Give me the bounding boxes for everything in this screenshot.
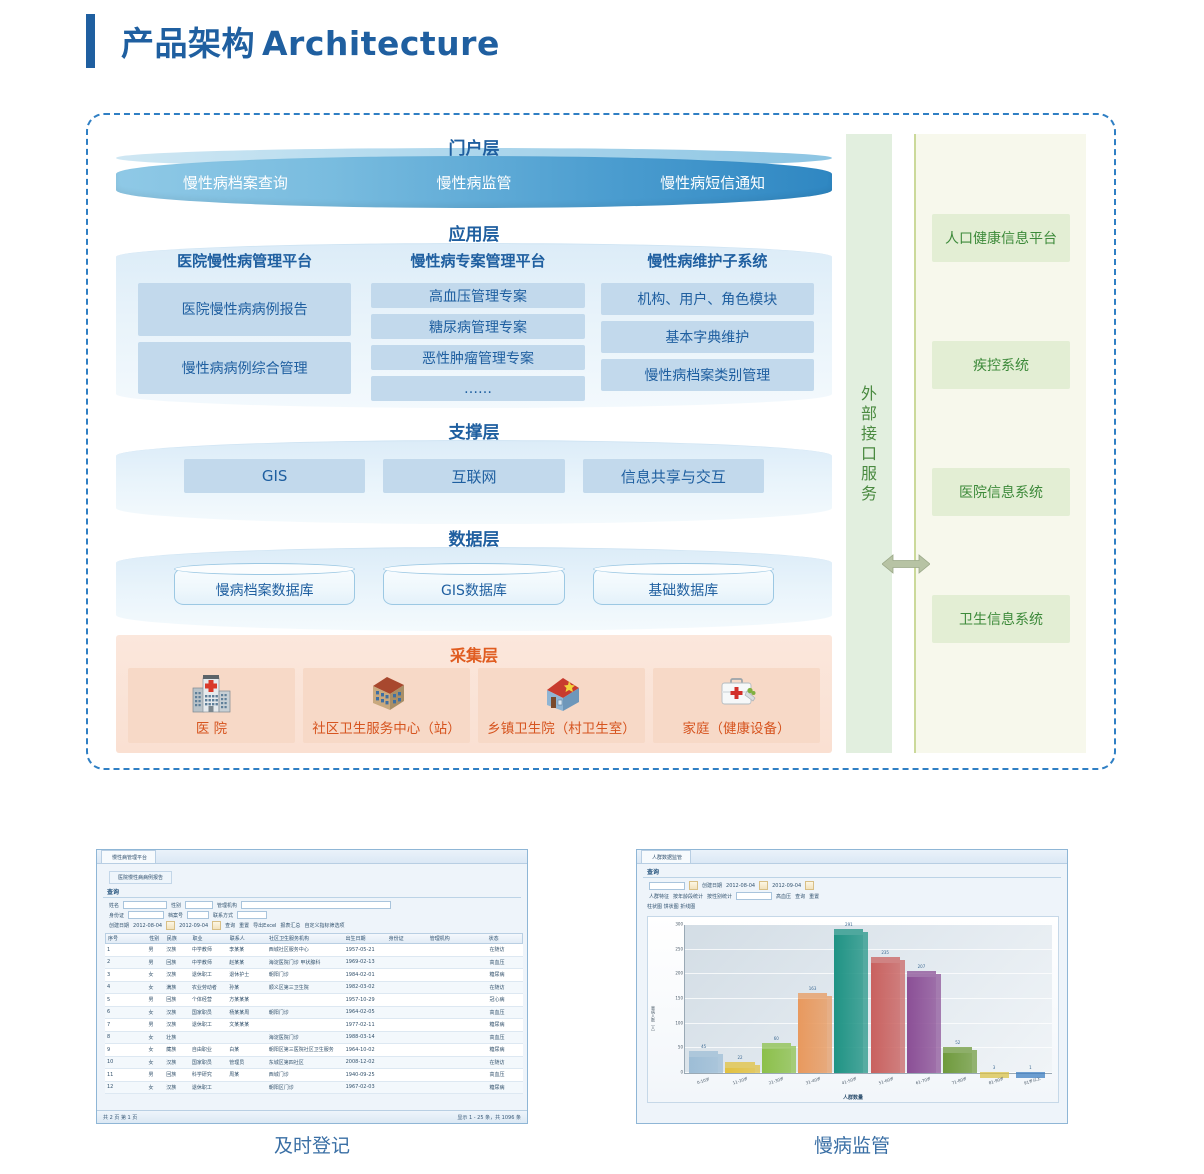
contact-input[interactable] <box>237 911 267 919</box>
database-gis[interactable]: GIS数据库 <box>383 563 564 605</box>
calendar-icon[interactable] <box>759 881 768 890</box>
bar-front-face <box>798 999 827 1073</box>
table-cell: 2008-12-02 <box>344 1059 387 1065</box>
collection-box-family[interactable]: 家庭（健康设备） <box>653 668 820 743</box>
chart-x-tick: 41-50岁 <box>831 1073 870 1096</box>
disease-select[interactable] <box>736 892 772 900</box>
collection-label-2: 乡镇卫生院（村卫生室） <box>487 717 636 737</box>
calendar-icon[interactable] <box>805 881 814 890</box>
radio-age[interactable]: 按年龄段统计 <box>673 893 703 900</box>
name-input[interactable] <box>123 901 167 909</box>
external-system-2[interactable]: 医院信息系统 <box>932 468 1070 516</box>
fileno-input[interactable] <box>187 911 209 919</box>
table-cell: 杨某某周 <box>227 1009 266 1016</box>
table-body: 1男汉族中学教师李某某西城社区服务中心1957-05-21在随访2012-09-… <box>105 944 523 1094</box>
table-cell: 赵某某 <box>227 959 266 966</box>
table-cell: 高血压 <box>488 1009 522 1016</box>
table-cell: 1982-03-02 <box>344 984 387 990</box>
bar-front-face <box>762 1049 791 1073</box>
external-system-3[interactable]: 卫生信息系统 <box>932 595 1070 643</box>
support-layer: 支撑层 GIS 互联网 信息共享与交互 <box>116 418 832 524</box>
chart-bars: 4522601632912352075231 <box>687 925 1050 1073</box>
application-column-0-title: 医院慢性病管理平台 <box>138 250 351 271</box>
application-layer-title: 应用层 <box>116 220 832 245</box>
table-cell: 李某某 <box>227 946 266 953</box>
table-cell: 10 <box>105 1059 121 1065</box>
table-cell: 汉族 <box>164 1059 190 1066</box>
table-cell: 汉族 <box>164 1021 190 1028</box>
collection-label-1: 社区卫生服务中心（站） <box>312 717 461 737</box>
bar-value-label: 1 <box>1016 1065 1045 1070</box>
support-boxes: GIS 互联网 信息共享与交互 <box>184 459 764 493</box>
application-column-case: 慢性病专案管理平台 高血压管理专案 糖尿病管理专案 恶性肿瘤管理专案 …… <box>371 250 584 394</box>
database-cylinder-top <box>593 563 774 575</box>
calendar-icon[interactable] <box>212 921 221 930</box>
table-row[interactable]: 5男回族个体经营方某某某1957-10-29冠心病2012-09-04 15:2… <box>105 994 523 1007</box>
field-label-gender: 性别 <box>171 902 181 909</box>
application-box-1-0[interactable]: 高血压管理专案 <box>371 283 584 308</box>
table-cell: 西城门诊 <box>267 1071 344 1078</box>
collection-box-township[interactable]: 乡镇卫生院（村卫生室） <box>478 668 645 743</box>
search-button[interactable]: 查询 <box>225 922 235 929</box>
table-cell: 2012-09-04 15:27:52 <box>521 997 523 1003</box>
bar-value-label: 3 <box>980 1065 1009 1070</box>
th-3: 职业 <box>190 935 227 942</box>
table-cell: 农业劳动者 <box>190 984 227 991</box>
table-cell: 朝阳区门诊 <box>267 1084 344 1091</box>
table-cell: 2012-09-04 15:24:56 <box>521 1022 523 1028</box>
collection-boxes: 医 院 <box>128 668 820 743</box>
table-cell: 中学教师 <box>190 959 227 966</box>
table-cell: 2012-09-04 15:24:02 <box>521 1047 523 1053</box>
table-cell: 个体经营 <box>190 996 227 1003</box>
application-columns: 医院慢性病管理平台 医院慢性病病例报告 慢性病病例综合管理 慢性病专案管理平台 … <box>134 250 814 394</box>
export-excel-button[interactable]: 导出Excel <box>253 922 276 929</box>
table-row[interactable]: 12女汉族退休职工朝阳区门诊1967-02-03糖尿病2012-09-04 15… <box>105 1082 523 1095</box>
table-cell: 4 <box>105 984 121 990</box>
date-to-value[interactable]: 2012-09-04 <box>772 883 801 889</box>
th-7: 身份证 <box>387 935 428 942</box>
calendar-icon[interactable] <box>166 921 175 930</box>
external-systems-panel: 人口健康信息平台 疾控系统 医院信息系统 卫生信息系统 <box>916 134 1086 753</box>
table-cell: 糖尿病 <box>488 1046 522 1053</box>
th-10: 创建日期 <box>520 935 522 942</box>
application-column-1-items: 高血压管理专案 糖尿病管理专案 恶性肿瘤管理专案 …… <box>371 283 584 401</box>
th-0: 序号 <box>106 935 122 942</box>
table-cell: 朝阳门诊 <box>267 971 344 978</box>
application-column-0-items: 医院慢性病病例报告 慢性病病例综合管理 <box>138 283 351 394</box>
table-cell: 2012-09-04 15:28:03 <box>521 947 523 953</box>
idcard-input[interactable] <box>128 911 164 919</box>
chart-bar[interactable]: 207 <box>905 925 941 1073</box>
record-count: 显示 1 - 25 条，共 1096 条 <box>457 1114 521 1121</box>
date-from-value[interactable]: 2012-08-04 <box>726 883 755 889</box>
application-box-0-0[interactable]: 医院慢性病病例报告 <box>138 283 351 336</box>
table-cell: 壮族 <box>164 1034 190 1041</box>
table-cell: 7 <box>105 1022 121 1028</box>
date-label: 创建日期 <box>702 882 722 889</box>
application-box-1-1[interactable]: 糖尿病管理专案 <box>371 314 584 339</box>
screenshot-monitoring: 人群数据监管 查询 创建日期 2012-08-04 2012-09-04 人群特… <box>636 849 1068 1124</box>
table-cell: 2012-09-04 15:22:47 <box>521 1059 523 1065</box>
table-cell: 在随访 <box>488 946 522 953</box>
collection-label-0: 医 院 <box>196 717 227 737</box>
table-cell: 2012-09-04 15:21:48 <box>521 1084 523 1090</box>
field-label-idcard: 身份证 <box>109 912 124 919</box>
application-column-2-title: 慢性病维护子系统 <box>601 250 814 271</box>
collection-layer: 采集层 <box>116 635 832 753</box>
table-cell: 12 <box>105 1084 121 1090</box>
table-cell: 8 <box>105 1034 121 1040</box>
date-to-value[interactable]: 2012-09-04 <box>179 923 208 929</box>
application-box-2-0[interactable]: 机构、用户、角色模块 <box>601 283 814 315</box>
chart-x-tick: 71-80岁 <box>941 1073 980 1096</box>
th-2: 民族 <box>165 935 191 942</box>
application-column-1-title: 慢性病专案管理平台 <box>371 250 584 271</box>
table-cell: 白某 <box>227 1046 266 1053</box>
collection-label-3: 家庭（健康设备） <box>683 717 791 737</box>
chart-y-tick: 0 <box>680 1070 683 1075</box>
divider <box>643 877 1061 878</box>
caption-registration: 及时登记 <box>96 1131 528 1158</box>
th-8: 管理机构 <box>428 935 487 942</box>
table-cell: 东城区第四社区 <box>267 1059 344 1066</box>
table-cell: 女 <box>146 984 164 991</box>
table-row[interactable]: 6女汉族国家职员杨某某周朝阳门诊1964-02-05高血压2012-09-04 … <box>105 1007 523 1020</box>
custom-filter-button[interactable]: 自定义指标筛选项 <box>304 922 344 929</box>
table-row[interactable]: 9女藏族自由职业白某朝阳区第三医院社区卫生服务1964-10-02糖尿病2012… <box>105 1044 523 1057</box>
database-cylinder-top <box>174 563 355 575</box>
database-label-1: GIS数据库 <box>383 575 564 605</box>
bar-value-label: 45 <box>689 1044 718 1049</box>
table-row[interactable]: 11男回族科学研究周某西城门诊1940-09-25高血压2012-09-04 1… <box>105 1069 523 1082</box>
table-cell: 汉族 <box>164 946 190 953</box>
screenshot-left-table: 序号 性别 民族 职业 联系人 社区卫生服务机构 出生日期 身份证 管理机构 状… <box>105 933 523 1094</box>
bar-value-label: 22 <box>725 1055 754 1060</box>
table-cell: 孙某 <box>227 984 266 991</box>
ext-char-2: 接 <box>846 424 892 444</box>
view-option-pie[interactable]: 饼状图 <box>664 904 679 910</box>
table-cell: 1957-10-29 <box>344 997 387 1003</box>
table-cell: 1969-02-13 <box>344 959 387 965</box>
portal-item-2[interactable]: 慢性病短信通知 <box>593 172 832 193</box>
double-arrow-icon <box>882 551 930 577</box>
database-label-2: 基础数据库 <box>593 575 774 605</box>
ext-char-0: 外 <box>846 384 892 404</box>
table-cell: 女 <box>146 1046 164 1053</box>
group-label: 人群特征 <box>649 893 669 900</box>
table-cell: 1967-02-03 <box>344 1084 387 1090</box>
radio-gender[interactable]: 按性别统计 <box>707 893 732 900</box>
table-cell: 退休职工 <box>190 1021 227 1028</box>
table-cell: 男 <box>146 959 164 966</box>
page-title-en: Architecture <box>262 24 500 63</box>
chart-x-tick: 61-70岁 <box>905 1073 944 1096</box>
table-row[interactable]: 8女壮族海淀医院门诊1988-03-14高血压2012-09-04 15:24:… <box>105 1032 523 1045</box>
chart-bar[interactable]: 1 <box>1014 925 1050 1073</box>
table-cell: 海淀医院门诊 <box>267 1034 344 1041</box>
chart-y-tick: 200 <box>675 971 683 976</box>
chart-x-tick: 0-10岁 <box>685 1073 724 1096</box>
table-cell: 汉族 <box>164 1084 190 1091</box>
table-cell: 朝阳区第三医院社区卫生服务 <box>267 1046 344 1053</box>
application-column-2-items: 机构、用户、角色模块 基本字典维护 慢性病档案类别管理 <box>601 283 814 391</box>
table-cell: 男 <box>146 996 164 1003</box>
table-cell: 男 <box>146 1071 164 1078</box>
field-label-org: 管理机构 <box>217 902 237 909</box>
table-row[interactable]: 7男汉族退休职工文某某某1977-02-11糖尿病2012-09-04 15:2… <box>105 1019 523 1032</box>
table-cell: 退休职工 <box>190 1084 227 1091</box>
th-6: 出生日期 <box>343 935 386 942</box>
chart-x-tick: 51-60岁 <box>868 1073 907 1096</box>
table-row[interactable]: 2男回族中学教师赵某某海淀医院门诊 甲状腺科1969-02-13高血压2012-… <box>105 957 523 970</box>
table-cell: 6 <box>105 1009 121 1015</box>
bar-front-face <box>907 977 936 1073</box>
chart-container: 患病人数（人） 050100150200250300 4522601632912… <box>647 916 1059 1103</box>
chart-bar[interactable]: 52 <box>941 925 977 1073</box>
table-cell: 海淀医院门诊 甲状腺科 <box>267 959 344 966</box>
table-cell: 糖尿病 <box>488 1021 522 1028</box>
bar-value-label: 60 <box>762 1036 791 1041</box>
th-1: 性别 <box>147 935 165 942</box>
table-cell: 2012-09-04 15:27:55 <box>521 984 523 990</box>
table-cell: 周某 <box>227 1071 266 1078</box>
ext-char-4: 服 <box>846 464 892 484</box>
screenshot-left-footer: 共 2 页 第 1 页 显示 1 - 25 条，共 1096 条 <box>97 1110 527 1123</box>
table-cell: 朝阳门诊 <box>267 1009 344 1016</box>
screenshot-registration: 慢性病管理平台 医院慢性病病例报告 查询 姓名 性别 管理机构 身份证 档案号 … <box>96 849 528 1124</box>
external-system-0[interactable]: 人口健康信息平台 <box>932 214 1070 262</box>
application-box-1-3[interactable]: …… <box>371 376 584 401</box>
chart-bar[interactable]: 60 <box>760 925 796 1073</box>
chart-bar[interactable]: 45 <box>687 925 723 1073</box>
table-cell: 1957-05-21 <box>344 947 387 953</box>
table-row[interactable]: 1男汉族中学教师李某某西城社区服务中心1957-05-21在随访2012-09-… <box>105 944 523 957</box>
chart-bar[interactable]: 22 <box>723 925 759 1073</box>
chart-x-tick: 11-20岁 <box>722 1073 761 1096</box>
table-cell: 国家职员 <box>190 1059 227 1066</box>
screenshot-left-form-row-2: 身份证 档案号 联系方式 <box>109 911 527 919</box>
chart-y-tick: 100 <box>675 1020 683 1025</box>
application-layer: 应用层 医院慢性病管理平台 医院慢性病病例报告 慢性病病例综合管理 慢性病专案管… <box>116 220 832 408</box>
collection-box-hospital[interactable]: 医 院 <box>128 668 295 743</box>
table-cell: 女 <box>146 1084 164 1091</box>
first-aid-kit-icon <box>714 672 760 714</box>
application-column-maintenance: 慢性病维护子系统 机构、用户、角色模块 基本字典维护 慢性病档案类别管理 <box>601 250 814 394</box>
page-title-cn: 产品架构 <box>121 24 255 63</box>
report-summary-button[interactable]: 报表汇总 <box>280 922 300 929</box>
chart-y-tick: 50 <box>678 1045 683 1050</box>
collection-box-community[interactable]: 社区卫生服务中心（站） <box>303 668 470 743</box>
portal-layer: 门户层 慢性病档案查询 慢性病监管 慢性病短信通知 <box>116 134 832 210</box>
table-cell: 1 <box>105 947 121 953</box>
divider <box>103 897 521 898</box>
bar-value-label: 291 <box>834 922 863 927</box>
application-box-2-2[interactable]: 慢性病档案类别管理 <box>601 359 814 391</box>
table-cell: 2012-09-04 15:27:58 <box>521 972 523 978</box>
chart-plot-area: 050100150200250300 452260163291235207523… <box>684 925 1052 1074</box>
gender-select[interactable] <box>185 901 213 909</box>
table-cell: 回族 <box>164 1071 190 1078</box>
table-cell: 女 <box>146 1059 164 1066</box>
portal-item-0[interactable]: 慢性病档案查询 <box>116 172 355 193</box>
community-center-icon <box>364 672 410 714</box>
collection-layer-title: 采集层 <box>116 642 832 666</box>
table-cell: 1984-02-01 <box>344 972 387 978</box>
bar-value-label: 235 <box>871 950 900 955</box>
table-row[interactable]: 4女满族农业劳动者孙某顺义区第三卫生院1982-03-02在随访2012-09-… <box>105 982 523 995</box>
screenshot-right-form-row-1: 创建日期 2012-08-04 2012-09-04 <box>649 881 1067 890</box>
table-cell: 回族 <box>164 996 190 1003</box>
table-cell: 女 <box>146 1009 164 1016</box>
chart-bar[interactable]: 163 <box>796 925 832 1073</box>
table-cell: 汉族 <box>164 1009 190 1016</box>
ext-char-1: 部 <box>846 404 892 424</box>
application-box-1-2[interactable]: 恶性肿瘤管理专案 <box>371 345 584 370</box>
table-cell: 中学教师 <box>190 946 227 953</box>
bar-value-label: 163 <box>798 986 827 991</box>
field-label-created: 创建日期 <box>109 922 129 929</box>
bar-value-label: 52 <box>943 1040 972 1045</box>
chart-view-options: 柱状图 饼状图 折线图 <box>647 903 695 910</box>
th-5: 社区卫生服务机构 <box>267 935 343 942</box>
database-chronic[interactable]: 慢病档案数据库 <box>174 563 355 605</box>
view-option-bar[interactable]: 柱状图 <box>647 904 662 910</box>
support-box-gis[interactable]: GIS <box>184 459 365 493</box>
chart-xlabel: 人群数量 <box>648 1094 1058 1101</box>
table-cell: 9 <box>105 1047 121 1053</box>
search-button[interactable]: 查询 <box>795 893 805 900</box>
table-cell: 西城社区服务中心 <box>267 946 344 953</box>
table-cell: 冠心病 <box>488 996 522 1003</box>
table-cell: 在随访 <box>488 1059 522 1066</box>
database-cylinder-top <box>383 563 564 575</box>
table-cell: 11 <box>105 1072 121 1078</box>
bar-front-face <box>725 1068 754 1073</box>
table-cell: 男 <box>146 946 164 953</box>
architecture-diagram: 门户层 慢性病档案查询 慢性病监管 慢性病短信通知 应用层 医院慢性病管理平台 … <box>86 113 1116 770</box>
chart-bar[interactable]: 3 <box>977 925 1013 1073</box>
table-cell: 男 <box>146 1021 164 1028</box>
support-box-internet[interactable]: 互联网 <box>383 459 564 493</box>
screenshot-right-form-row-2: 人群特征 按年龄段统计 按性别统计 高血压 查询 重置 <box>649 892 1067 900</box>
architecture-page: 产品架构Architecture 门户层 慢性病档案查询 慢性病监管 慢性病短信… <box>0 0 1204 1174</box>
bar-front-face <box>834 935 863 1073</box>
chevron-down-icon[interactable] <box>689 881 698 890</box>
table-cell: 国家职员 <box>190 1009 227 1016</box>
org-select[interactable] <box>241 901 391 909</box>
external-interface-service: 外 部 接 口 服 务 <box>846 134 892 753</box>
ext-char-3: 口 <box>846 444 892 464</box>
table-cell: 在随访 <box>488 984 522 991</box>
bar-value-label: 207 <box>907 964 936 969</box>
table-cell: 女 <box>146 1034 164 1041</box>
table-cell: 管理员 <box>227 1059 266 1066</box>
external-interface-service-label: 外 部 接 口 服 务 <box>846 384 892 504</box>
application-column-hospital: 医院慢性病管理平台 医院慢性病病例报告 慢性病病例综合管理 <box>134 250 355 394</box>
screenshot-right-tabbar: 人群数据监管 <box>637 850 1067 864</box>
application-box-2-1[interactable]: 基本字典维护 <box>601 321 814 353</box>
table-cell: 1940-09-25 <box>344 1072 387 1078</box>
table-cell: 2012-09-04 15:25:10 <box>521 1009 523 1015</box>
table-row[interactable]: 3女汉族退休职工退休护士朝阳门诊1984-02-01糖尿病2012-09-04 … <box>105 969 523 982</box>
chart-bar[interactable]: 235 <box>868 925 904 1073</box>
application-box-0-1[interactable]: 慢性病病例综合管理 <box>138 342 351 395</box>
disease-select-value: 高血压 <box>776 893 791 900</box>
table-cell: 糖尿病 <box>488 971 522 978</box>
chart-x-tick: 31-40岁 <box>795 1073 834 1096</box>
chart-x-tick: 21-30岁 <box>758 1073 797 1096</box>
portal-item-1[interactable]: 慢性病监管 <box>355 172 594 193</box>
hospital-icon <box>189 672 235 714</box>
screenshot-left-form-row-3: 创建日期 2012-08-04 2012-09-04 查询 重置 导出Excel… <box>109 921 527 930</box>
table-cell: 1988-03-14 <box>344 1034 387 1040</box>
support-box-sharing[interactable]: 信息共享与交互 <box>583 459 764 493</box>
table-header-row: 序号 性别 民族 职业 联系人 社区卫生服务机构 出生日期 身份证 管理机构 状… <box>105 933 523 944</box>
table-cell: 回族 <box>164 959 190 966</box>
table-cell: 5 <box>105 997 121 1003</box>
view-option-line[interactable]: 折线图 <box>680 904 695 910</box>
table-cell: 退休护士 <box>227 971 266 978</box>
table-cell: 2012-09-04 15:22:02 <box>521 1072 523 1078</box>
table-cell: 高血压 <box>488 959 522 966</box>
region-select[interactable] <box>649 882 685 890</box>
portal-items: 慢性病档案查询 慢性病监管 慢性病短信通知 <box>116 156 832 208</box>
ext-char-5: 务 <box>846 484 892 504</box>
th-4: 联系人 <box>228 935 267 942</box>
screenshot-left-subtab[interactable]: 医院慢性病病例报告 <box>109 871 172 884</box>
bar-front-face <box>689 1057 718 1073</box>
external-system-1[interactable]: 疾控系统 <box>932 341 1070 389</box>
table-cell: 1964-02-05 <box>344 1009 387 1015</box>
database-label-0: 慢病档案数据库 <box>174 575 355 605</box>
table-row[interactable]: 10女汉族国家职员管理员东城区第四社区2008-12-02在随访2012-09-… <box>105 1057 523 1070</box>
page-title: 产品架构Architecture <box>86 14 500 68</box>
data-layer: 数据层 慢病档案数据库 GIS数据库 基础数据库 <box>116 525 832 631</box>
caption-monitoring: 慢病监管 <box>636 1131 1068 1158</box>
table-cell: 2012-09-04 15:28:01 <box>521 959 523 965</box>
table-cell: 文某某某 <box>227 1021 266 1028</box>
chart-y-tick: 250 <box>675 946 683 951</box>
table-cell: 高血压 <box>488 1034 522 1041</box>
table-cell: 女 <box>146 971 164 978</box>
reset-button[interactable]: 重置 <box>239 922 249 929</box>
chart-bar[interactable]: 291 <box>832 925 868 1073</box>
date-from-value[interactable]: 2012-08-04 <box>133 923 162 929</box>
chart-y-tick: 150 <box>675 996 683 1001</box>
table-cell: 顺义区第三卫生院 <box>267 984 344 991</box>
screenshot-left-section-title: 查询 <box>107 887 527 896</box>
reset-button[interactable]: 重置 <box>809 893 819 900</box>
th-9: 状态 <box>487 935 520 942</box>
pagination-info[interactable]: 共 2 页 第 1 页 <box>103 1114 137 1121</box>
table-cell: 2 <box>105 959 121 965</box>
screenshot-left-form-row-1: 姓名 性别 管理机构 <box>109 901 527 909</box>
table-cell: 1964-10-02 <box>344 1047 387 1053</box>
screenshot-right-section-title: 查询 <box>647 867 1067 876</box>
table-cell: 藏族 <box>164 1046 190 1053</box>
database-base[interactable]: 基础数据库 <box>593 563 774 605</box>
table-cell: 1977-02-11 <box>344 1022 387 1028</box>
screenshot-left-tab[interactable]: 慢性病管理平台 <box>101 850 156 863</box>
title-accent-bar <box>86 14 95 68</box>
field-label-fileno: 档案号 <box>168 912 183 919</box>
table-cell: 退休职工 <box>190 971 227 978</box>
table-cell: 自由职业 <box>190 1046 227 1053</box>
table-cell: 科学研究 <box>190 1071 227 1078</box>
field-label-name: 姓名 <box>109 902 119 909</box>
screenshot-right-tab[interactable]: 人群数据监管 <box>641 850 691 863</box>
